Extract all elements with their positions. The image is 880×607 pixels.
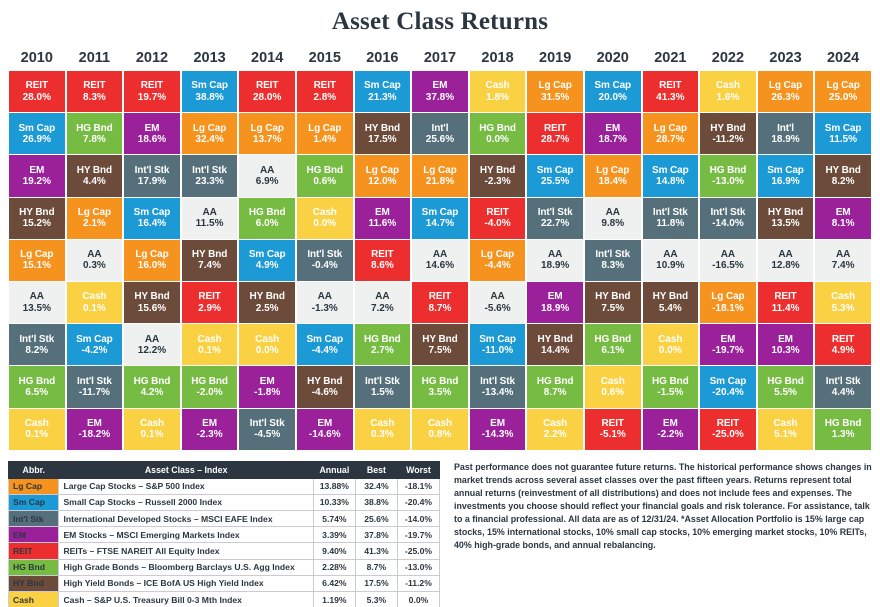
matrix-cell-asset-label: Int'l Stk: [480, 376, 515, 387]
matrix-cell[interactable]: Int'l Stk-14.0%: [700, 198, 756, 239]
year-header-2021: 2021: [642, 50, 700, 66]
matrix-cell[interactable]: EM11.6%: [355, 198, 411, 239]
matrix-cell-asset-label: Lg Cap: [481, 249, 514, 260]
matrix-cell-return-value: -11.2%: [712, 134, 743, 145]
matrix-cell-asset-label: EM: [778, 334, 793, 345]
matrix-cell[interactable]: HY Bnd7.5%: [585, 282, 641, 323]
matrix-cell[interactable]: Int'l Stk1.5%: [355, 366, 411, 407]
matrix-cell[interactable]: REIT2.8%: [297, 71, 353, 112]
matrix-cell-asset-label: Lg Cap: [711, 291, 744, 302]
matrix-cell[interactable]: Int'l Stk11.8%: [643, 198, 699, 239]
matrix-cell-asset-label: Cash: [140, 418, 164, 429]
matrix-cell[interactable]: EM37.8%: [412, 71, 468, 112]
matrix-cell-asset-label: EM: [375, 207, 390, 218]
matrix-cell[interactable]: REIT11.4%: [758, 282, 814, 323]
matrix-cell-asset-label: Int'l Stk: [250, 418, 285, 429]
matrix-cell[interactable]: Cash2.2%: [527, 409, 583, 450]
matrix-cell[interactable]: Int'l Stk-4.5%: [239, 409, 295, 450]
matrix-cell-return-value: -2.3%: [484, 176, 510, 187]
matrix-cell[interactable]: HY Bnd-4.6%: [297, 366, 353, 407]
matrix-cell-asset-label: EM: [836, 207, 851, 218]
matrix-cell-asset-label: HG Bnd: [306, 165, 343, 176]
matrix-cell-return-value: 6.5%: [25, 387, 48, 398]
matrix-cell[interactable]: REIT28.0%: [239, 71, 295, 112]
legend-row[interactable]: Int'l StkInternational Developed Stocks …: [9, 511, 440, 527]
matrix-cell-return-value: 16.9%: [771, 176, 799, 187]
matrix-cell[interactable]: Cash0.1%: [182, 324, 238, 365]
matrix-cell-asset-label: Cash: [82, 291, 106, 302]
matrix-cell-asset-label: Int'l Stk: [826, 376, 861, 387]
matrix-cell-asset-label: Cash: [255, 334, 279, 345]
matrix-cell-return-value: 0.1%: [83, 303, 106, 314]
matrix-cell-return-value: 11.5%: [196, 218, 224, 229]
matrix-cell[interactable]: AA13.5%: [9, 282, 65, 323]
matrix-cell[interactable]: Sm Cap-20.4%: [700, 366, 756, 407]
matrix-cell[interactable]: HG Bnd0.0%: [470, 113, 526, 154]
matrix-cell[interactable]: Cash1.6%: [700, 71, 756, 112]
matrix-cell-return-value: 0.1%: [198, 345, 221, 356]
legend-abbr-swatch: Cash: [9, 592, 59, 607]
matrix-cell[interactable]: HY Bnd8.2%: [815, 155, 871, 196]
matrix-cell[interactable]: EM18.9%: [527, 282, 583, 323]
matrix-cell-return-value: 23.3%: [195, 176, 223, 187]
matrix-cell-return-value: 0.0%: [256, 345, 279, 356]
legend-best-value: 8.7%: [355, 559, 397, 575]
year-header-2024: 2024: [814, 50, 872, 66]
matrix-cell[interactable]: Int'l Stk8.3%: [585, 240, 641, 281]
matrix-cell[interactable]: HG Bnd-1.5%: [643, 366, 699, 407]
matrix-cell[interactable]: HY Bnd7.4%: [182, 240, 238, 281]
matrix-cell-asset-label: Lg Cap: [135, 249, 168, 260]
matrix-cell[interactable]: Sm Cap11.5%: [815, 113, 871, 154]
matrix-cell-return-value: 13.7%: [253, 134, 281, 145]
matrix-cell[interactable]: AA-16.5%: [700, 240, 756, 281]
matrix-cell[interactable]: Int'l25.6%: [412, 113, 468, 154]
matrix-cell[interactable]: Sm Cap38.8%: [182, 71, 238, 112]
matrix-cell-return-value: 26.9%: [23, 134, 51, 145]
matrix-cell[interactable]: HG Bnd6.0%: [239, 198, 295, 239]
legend-table: Abbr.Asset Class – IndexAnnualBestWorst …: [8, 461, 440, 607]
matrix-cell-asset-label: Int'l Stk: [307, 249, 342, 260]
matrix-cell[interactable]: Int'l Stk4.4%: [815, 366, 871, 407]
matrix-cell[interactable]: EM-2.2%: [643, 409, 699, 450]
matrix-cell[interactable]: HG Bnd3.5%: [412, 366, 468, 407]
matrix-cell-return-value: 8.3%: [83, 92, 106, 103]
matrix-cell-return-value: 28.0%: [23, 92, 51, 103]
matrix-cell-asset-label: Int'l Stk: [653, 207, 688, 218]
matrix-cell[interactable]: AA6.9%: [239, 155, 295, 196]
matrix-cell-return-value: -4.5%: [254, 429, 280, 440]
matrix-cell[interactable]: AA12.8%: [758, 240, 814, 281]
matrix-cell[interactable]: Lg Cap16.0%: [124, 240, 180, 281]
matrix-cell-asset-label: Cash: [601, 376, 625, 387]
matrix-cell-asset-label: HY Bnd: [480, 165, 515, 176]
matrix-cell[interactable]: Int'l Stk23.3%: [182, 155, 238, 196]
matrix-cell[interactable]: Lg Cap15.1%: [9, 240, 65, 281]
matrix-cell[interactable]: REIT-25.0%: [700, 409, 756, 450]
matrix-cell[interactable]: HG Bnd8.7%: [527, 366, 583, 407]
legend-row[interactable]: REITREITs – FTSE NAREIT All Equity Index…: [9, 543, 440, 559]
matrix-cell[interactable]: Lg Cap18.4%: [585, 155, 641, 196]
matrix-cell[interactable]: AA-1.3%: [297, 282, 353, 323]
matrix-cell[interactable]: EM18.6%: [124, 113, 180, 154]
matrix-cell-asset-label: AA: [663, 249, 677, 260]
matrix-cell[interactable]: Int'l Stk22.7%: [527, 198, 583, 239]
matrix-cell[interactable]: Cash0.1%: [67, 282, 123, 323]
legend-col-header-best: Best: [355, 461, 397, 478]
matrix-cell[interactable]: AA-5.6%: [470, 282, 526, 323]
matrix-cell-asset-label: EM: [202, 418, 217, 429]
matrix-cell[interactable]: HY Bnd5.4%: [643, 282, 699, 323]
matrix-cell-return-value: 1.3%: [832, 429, 855, 440]
matrix-cell[interactable]: Lg Cap-18.1%: [700, 282, 756, 323]
matrix-cell[interactable]: REIT8.6%: [355, 240, 411, 281]
matrix-cell[interactable]: EM-1.8%: [239, 366, 295, 407]
matrix-column-2016: Sm Cap21.3%HY Bnd17.5%Lg Cap12.0%EM11.6%…: [354, 71, 412, 451]
matrix-cell[interactable]: Lg Cap26.3%: [758, 71, 814, 112]
matrix-cell-return-value: 6.0%: [256, 218, 279, 229]
matrix-cell-return-value: 7.4%: [832, 260, 855, 271]
matrix-cell-return-value: 18.7%: [599, 134, 627, 145]
matrix-cell-asset-label: EM: [721, 334, 736, 345]
matrix-cell-return-value: 10.9%: [656, 260, 684, 271]
matrix-cell[interactable]: Lg Cap31.5%: [527, 71, 583, 112]
matrix-cell[interactable]: REIT19.7%: [124, 71, 180, 112]
matrix-cell[interactable]: Int'l Stk8.2%: [9, 324, 65, 365]
matrix-cell[interactable]: Lg Cap12.0%: [355, 155, 411, 196]
matrix-column-2013: Sm Cap38.8%Lg Cap32.4%Int'l Stk23.3%AA11…: [181, 71, 239, 451]
matrix-cell[interactable]: Sm Cap16.9%: [758, 155, 814, 196]
year-header-2015: 2015: [296, 50, 354, 66]
matrix-cell[interactable]: EM18.7%: [585, 113, 641, 154]
matrix-cell[interactable]: HY Bnd15.2%: [9, 198, 65, 239]
matrix-cell-return-value: 17.5%: [368, 134, 396, 145]
matrix-cell[interactable]: Sm Cap-4.2%: [67, 324, 123, 365]
matrix-cell-asset-label: EM: [87, 418, 102, 429]
matrix-cell-asset-label: HG Bnd: [825, 418, 862, 429]
legend-col-header-annual: Annual: [313, 461, 355, 478]
matrix-cell[interactable]: EM10.3%: [758, 324, 814, 365]
matrix-cell-asset-label: REIT: [544, 123, 566, 134]
matrix-cell-asset-label: REIT: [371, 249, 393, 260]
matrix-cell-return-value: 15.1%: [23, 260, 51, 271]
matrix-cell-return-value: 18.6%: [138, 134, 166, 145]
year-header-2019: 2019: [526, 50, 584, 66]
matrix-cell-asset-label: AA: [606, 207, 620, 218]
legend-row[interactable]: HG BndHigh Grade Bonds – Bloomberg Barcl…: [9, 559, 440, 575]
matrix-cell[interactable]: Cash0.6%: [585, 366, 641, 407]
matrix-cell-return-value: 14.7%: [426, 218, 454, 229]
matrix-cell-return-value: 12.2%: [138, 345, 166, 356]
matrix-cell-return-value: 8.7%: [544, 387, 567, 398]
legend-worst-value: -18.1%: [397, 478, 439, 494]
matrix-cell-asset-label: REIT: [486, 207, 508, 218]
matrix-cell[interactable]: REIT-4.0%: [470, 198, 526, 239]
matrix-cell[interactable]: Cash0.8%: [412, 409, 468, 450]
matrix-cell-asset-label: Cash: [543, 418, 567, 429]
matrix-cell-return-value: 8.3%: [601, 260, 624, 271]
matrix-cell[interactable]: HY Bnd17.5%: [355, 113, 411, 154]
matrix-cell-return-value: -4.4%: [484, 260, 510, 271]
matrix-cell-asset-label: REIT: [659, 80, 681, 91]
matrix-cell-asset-label: AA: [721, 249, 735, 260]
year-header-2022: 2022: [699, 50, 757, 66]
matrix-cell-asset-label: REIT: [832, 334, 854, 345]
matrix-cell[interactable]: Lg Cap-4.4%: [470, 240, 526, 281]
legend-worst-value: -20.4%: [397, 494, 439, 510]
legend-asset-class-name: EM Stocks – MSCI Emerging Markets Index: [59, 527, 313, 543]
matrix-column-2014: REIT28.0%Lg Cap13.7%AA6.9%HG Bnd6.0%Sm C…: [238, 71, 296, 451]
matrix-cell[interactable]: AA11.5%: [182, 198, 238, 239]
matrix-cell-asset-label: EM: [663, 418, 678, 429]
matrix-cell[interactable]: HG Bnd6.5%: [9, 366, 65, 407]
matrix-cell[interactable]: HY Bnd4.4%: [67, 155, 123, 196]
legend-annual-value: 13.88%: [313, 478, 355, 494]
matrix-cell[interactable]: Int'l Stk-11.7%: [67, 366, 123, 407]
matrix-cell[interactable]: Lg Cap13.7%: [239, 113, 295, 154]
matrix-cell-asset-label: Sm Cap: [18, 123, 55, 134]
matrix-cell-return-value: -18.1%: [712, 303, 744, 314]
matrix-cell[interactable]: EM8.1%: [815, 198, 871, 239]
legend-best-value: 37.8%: [355, 527, 397, 543]
matrix-cell[interactable]: AA18.9%: [527, 240, 583, 281]
matrix-cell[interactable]: HY Bnd14.4%: [527, 324, 583, 365]
matrix-cell[interactable]: Lg Cap2.1%: [67, 198, 123, 239]
matrix-cell[interactable]: HG Bnd7.8%: [67, 113, 123, 154]
matrix-cell-asset-label: AA: [778, 249, 792, 260]
matrix-cell-asset-label: HY Bnd: [365, 123, 400, 134]
matrix-cell-return-value: 0.6%: [601, 387, 624, 398]
matrix-cell[interactable]: REIT8.7%: [412, 282, 468, 323]
matrix-cell-return-value: 0.3%: [371, 429, 394, 440]
year-header-2020: 2020: [584, 50, 642, 66]
matrix-cell[interactable]: EM-2.3%: [182, 409, 238, 450]
matrix-cell-asset-label: HY Bnd: [537, 334, 572, 345]
matrix-cell[interactable]: HY Bnd7.5%: [412, 324, 468, 365]
matrix-cell[interactable]: Sm Cap16.4%: [124, 198, 180, 239]
legend-row[interactable]: Sm CapSmall Cap Stocks – Russell 2000 In…: [9, 494, 440, 510]
matrix-cell[interactable]: Int'l18.9%: [758, 113, 814, 154]
matrix-cell-return-value: 0.1%: [25, 429, 48, 440]
legend-annual-value: 1.19%: [313, 592, 355, 607]
matrix-cell[interactable]: Sm Cap4.9%: [239, 240, 295, 281]
matrix-cell[interactable]: Lg Cap32.4%: [182, 113, 238, 154]
matrix-cell-return-value: -25.0%: [712, 429, 744, 440]
matrix-cell[interactable]: REIT-5.1%: [585, 409, 641, 450]
matrix-cell[interactable]: HY Bnd-11.2%: [700, 113, 756, 154]
matrix-cell-asset-label: REIT: [256, 80, 278, 91]
matrix-cell-asset-label: AA: [30, 291, 44, 302]
matrix-cell[interactable]: Int'l Stk17.9%: [124, 155, 180, 196]
matrix-cell-return-value: 0.3%: [83, 260, 106, 271]
matrix-column-2012: REIT19.7%EM18.6%Int'l Stk17.9%Sm Cap16.4…: [123, 71, 181, 451]
matrix-cell[interactable]: HG Bnd4.2%: [124, 366, 180, 407]
matrix-cell-asset-label: Lg Cap: [78, 207, 111, 218]
matrix-cell-asset-label: HY Bnd: [595, 291, 630, 302]
matrix-cell[interactable]: Sm Cap14.8%: [643, 155, 699, 196]
matrix-cell-return-value: 11.6%: [368, 218, 396, 229]
matrix-cell[interactable]: Cash0.0%: [297, 198, 353, 239]
matrix-cell[interactable]: Lg Cap25.0%: [815, 71, 871, 112]
matrix-cell[interactable]: Sm Cap26.9%: [9, 113, 65, 154]
matrix-cell-return-value: 19.7%: [138, 92, 166, 103]
matrix-cell-asset-label: HY Bnd: [768, 207, 803, 218]
matrix-cell-asset-label: EM: [490, 418, 505, 429]
matrix-cell-return-value: -20.4%: [712, 387, 744, 398]
matrix-cell[interactable]: REIT41.3%: [643, 71, 699, 112]
matrix-column-gap: [872, 71, 880, 451]
matrix-cell[interactable]: AA9.8%: [585, 198, 641, 239]
matrix-cell-asset-label: HG Bnd: [364, 334, 401, 345]
matrix-cell-return-value: -1.3%: [312, 303, 338, 314]
year-header-gap: [872, 50, 880, 66]
matrix-cell[interactable]: Lg Cap1.4%: [297, 113, 353, 154]
matrix-cell-return-value: 0.6%: [313, 176, 336, 187]
matrix-cell[interactable]: HG Bnd0.6%: [297, 155, 353, 196]
matrix-cell-asset-label: Cash: [658, 334, 682, 345]
matrix-cell-return-value: 0.8%: [429, 429, 452, 440]
matrix-cell[interactable]: Lg Cap28.7%: [643, 113, 699, 154]
matrix-cell[interactable]: REIT28.7%: [527, 113, 583, 154]
matrix-cell[interactable]: EM-14.3%: [470, 409, 526, 450]
matrix-cell-asset-label: Int'l Stk: [135, 165, 170, 176]
legend-best-value: 38.8%: [355, 494, 397, 510]
matrix-cell-return-value: 16.4%: [138, 218, 166, 229]
legend-abbr-swatch: HG Bnd: [9, 559, 59, 575]
matrix-cell[interactable]: HY Bnd13.5%: [758, 198, 814, 239]
matrix-cell[interactable]: REIT28.0%: [9, 71, 65, 112]
matrix-cell[interactable]: HG Bnd-13.0%: [700, 155, 756, 196]
matrix-cell-return-value: 2.8%: [313, 92, 336, 103]
matrix-cell[interactable]: Int'l Stk-13.4%: [470, 366, 526, 407]
matrix-cell[interactable]: HY Bnd15.6%: [124, 282, 180, 323]
legend-col-header-asset-class: Asset Class – Index: [59, 461, 313, 478]
matrix-cell[interactable]: Int'l Stk-0.4%: [297, 240, 353, 281]
legend-worst-value: -13.0%: [397, 559, 439, 575]
matrix-cell-return-value: -13.0%: [712, 176, 744, 187]
legend-row[interactable]: Lg CapLarge Cap Stocks – S&P 500 Index13…: [9, 478, 440, 494]
year-header-2016: 2016: [354, 50, 412, 66]
matrix-cell-return-value: -2.0%: [197, 387, 223, 398]
matrix-cell-asset-label: Cash: [313, 207, 337, 218]
matrix-cell[interactable]: Cash5.3%: [815, 282, 871, 323]
matrix-cell[interactable]: HG Bnd6.1%: [585, 324, 641, 365]
matrix-cell-return-value: 2.2%: [544, 429, 567, 440]
matrix-cell[interactable]: EM-14.6%: [297, 409, 353, 450]
matrix-cell[interactable]: Cash5.1%: [758, 409, 814, 450]
matrix-cell-asset-label: Lg Cap: [20, 249, 53, 260]
matrix-cell-asset-label: Sm Cap: [652, 165, 689, 176]
legend-row[interactable]: CashCash – S&P U.S. Treasury Bill 0-3 Mt…: [9, 592, 440, 607]
year-header-2010: 2010: [8, 50, 66, 66]
legend-row[interactable]: HY BndHigh Yield Bonds – ICE BofA US Hig…: [9, 575, 440, 591]
year-header-2011: 2011: [66, 50, 124, 66]
matrix-cell[interactable]: Cash0.0%: [643, 324, 699, 365]
matrix-cell[interactable]: AA12.2%: [124, 324, 180, 365]
matrix-cell[interactable]: HY Bnd-2.3%: [470, 155, 526, 196]
matrix-cell-return-value: 37.8%: [426, 92, 454, 103]
matrix-cell-return-value: -1.5%: [657, 387, 683, 398]
matrix-cell[interactable]: REIT2.9%: [182, 282, 238, 323]
matrix-cell[interactable]: REIT4.9%: [815, 324, 871, 365]
matrix-cell[interactable]: AA10.9%: [643, 240, 699, 281]
matrix-cell[interactable]: HG Bnd1.3%: [815, 409, 871, 450]
matrix-cell-return-value: 0.0%: [659, 345, 682, 356]
matrix-cell[interactable]: EM19.2%: [9, 155, 65, 196]
matrix-cell-asset-label: EM: [260, 376, 275, 387]
matrix-cell-return-value: 2.5%: [256, 303, 279, 314]
matrix-cell[interactable]: AA7.2%: [355, 282, 411, 323]
matrix-cell-asset-label: HY Bnd: [192, 249, 227, 260]
matrix-cell[interactable]: Lg Cap21.8%: [412, 155, 468, 196]
matrix-cell-return-value: 2.9%: [198, 303, 221, 314]
matrix-cell[interactable]: AA7.4%: [815, 240, 871, 281]
legend-worst-value: -19.7%: [397, 527, 439, 543]
legend-asset-class-name: High Grade Bonds – Bloomberg Barclays U.…: [59, 559, 313, 575]
matrix-cell[interactable]: HY Bnd2.5%: [239, 282, 295, 323]
matrix-cell[interactable]: Sm Cap-4.4%: [297, 324, 353, 365]
matrix-cell[interactable]: Cash1.8%: [470, 71, 526, 112]
matrix-cell-return-value: -4.2%: [81, 345, 107, 356]
matrix-cell-return-value: 13.5%: [23, 303, 51, 314]
matrix-cell[interactable]: AA0.3%: [67, 240, 123, 281]
matrix-cell-return-value: 7.2%: [371, 303, 394, 314]
matrix-cell-asset-label: HG Bnd: [479, 123, 516, 134]
matrix-cell[interactable]: Sm Cap21.3%: [355, 71, 411, 112]
matrix-cell[interactable]: AA14.6%: [412, 240, 468, 281]
matrix-cell-asset-label: HG Bnd: [76, 123, 113, 134]
matrix-cell[interactable]: Cash0.3%: [355, 409, 411, 450]
matrix-cell-return-value: 15.2%: [23, 218, 51, 229]
matrix-cell-asset-label: HY Bnd: [653, 291, 688, 302]
matrix-cell[interactable]: Cash0.1%: [124, 409, 180, 450]
matrix-cell[interactable]: Sm Cap14.7%: [412, 198, 468, 239]
matrix-cell[interactable]: Sm Cap20.0%: [585, 71, 641, 112]
matrix-cell-asset-label: Int'l Stk: [365, 376, 400, 387]
matrix-cell-asset-label: HG Bnd: [249, 207, 286, 218]
matrix-cell-asset-label: HY Bnd: [422, 334, 457, 345]
matrix-cell-return-value: 1.5%: [371, 387, 394, 398]
matrix-cell-asset-label: Cash: [370, 418, 394, 429]
matrix-cell[interactable]: EM-19.7%: [700, 324, 756, 365]
matrix-cell-return-value: 14.6%: [426, 260, 454, 271]
matrix-cell-return-value: 41.3%: [656, 92, 684, 103]
legend-best-value: 41.3%: [355, 543, 397, 559]
matrix-cell-return-value: 17.9%: [138, 176, 166, 187]
matrix-cell[interactable]: HG Bnd2.7%: [355, 324, 411, 365]
matrix-cell-asset-label: Sm Cap: [710, 376, 747, 387]
matrix-cell[interactable]: EM-18.2%: [67, 409, 123, 450]
matrix-cell[interactable]: Cash0.0%: [239, 324, 295, 365]
matrix-cell[interactable]: HG Bnd5.5%: [758, 366, 814, 407]
matrix-cell[interactable]: Sm Cap25.5%: [527, 155, 583, 196]
matrix-cell-asset-label: Sm Cap: [191, 80, 228, 91]
legend-asset-class-name: Small Cap Stocks – Russell 2000 Index: [59, 494, 313, 510]
matrix-cell-return-value: 25.6%: [426, 134, 454, 145]
matrix-cell[interactable]: Cash0.1%: [9, 409, 65, 450]
legend-row[interactable]: EMEM Stocks – MSCI Emerging Markets Inde…: [9, 527, 440, 543]
matrix-cell[interactable]: HG Bnd-2.0%: [182, 366, 238, 407]
legend-annual-value: 9.40%: [313, 543, 355, 559]
matrix-cell-return-value: 18.9%: [541, 303, 569, 314]
matrix-column-2024: Lg Cap25.0%Sm Cap11.5%HY Bnd8.2%EM8.1%AA…: [814, 71, 872, 451]
matrix-cell-return-value: -5.1%: [600, 429, 626, 440]
matrix-cell[interactable]: REIT8.3%: [67, 71, 123, 112]
legend-table-head: Abbr.Asset Class – IndexAnnualBestWorst: [9, 461, 440, 478]
matrix-cell-return-value: 2.7%: [371, 345, 394, 356]
legend-best-value: 17.5%: [355, 575, 397, 591]
matrix-cell[interactable]: Sm Cap-11.0%: [470, 324, 526, 365]
